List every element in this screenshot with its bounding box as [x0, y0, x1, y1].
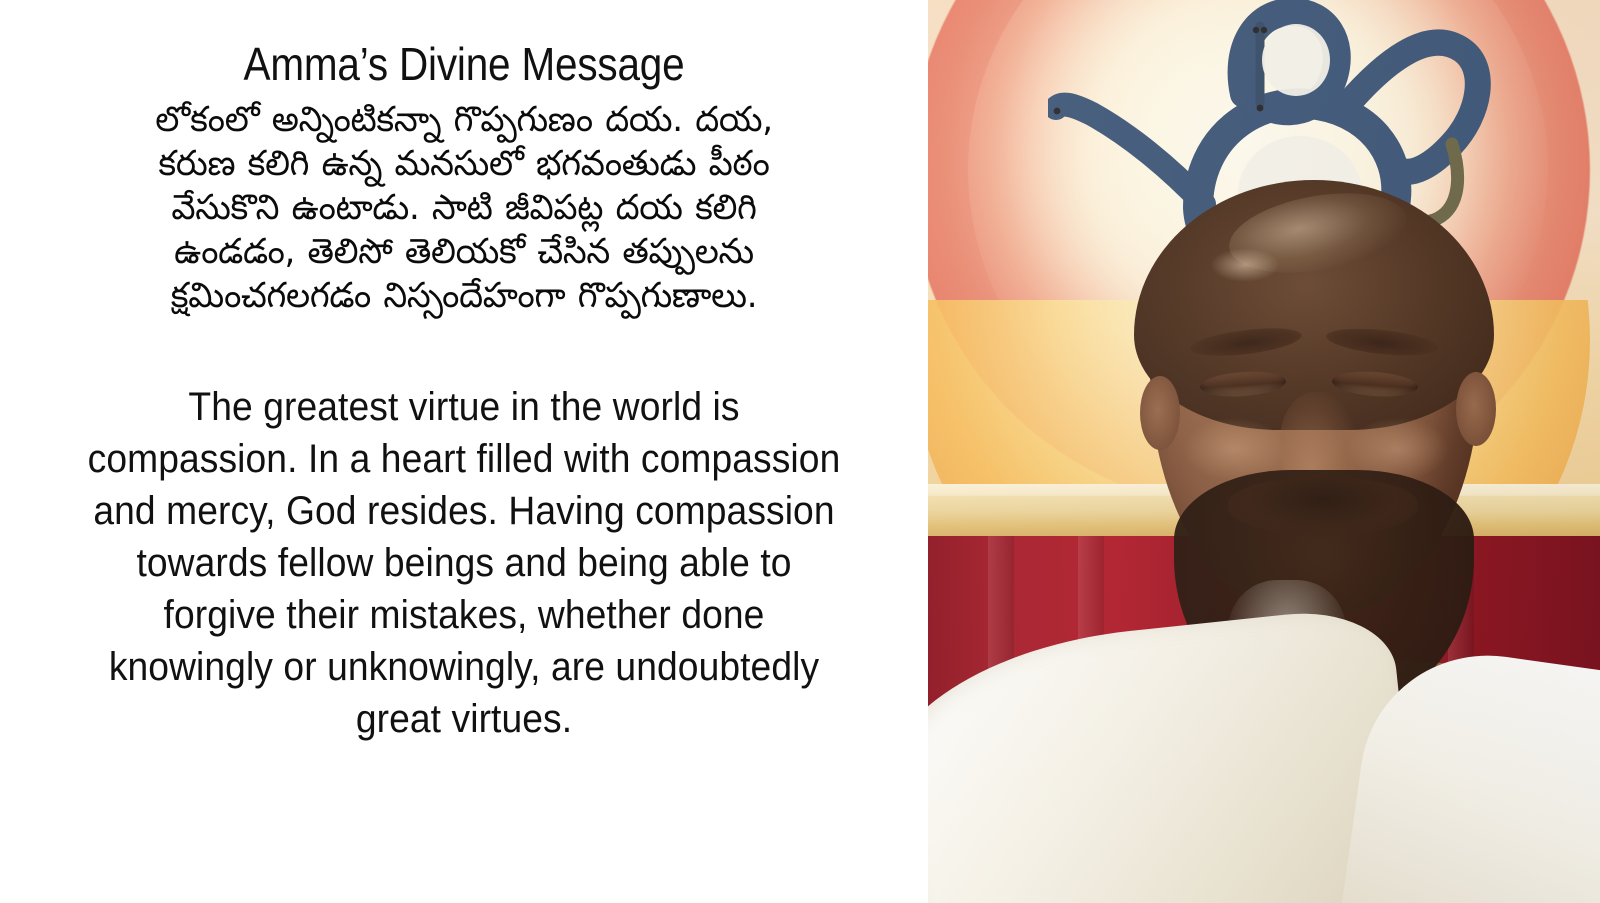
telugu-line: కరుణ కలిగి ఉన్న మనసులో భగవంతుడు పీఠం — [68, 142, 860, 186]
amma-photograph — [928, 0, 1600, 903]
photo-inner — [928, 0, 1600, 903]
telugu-line: లోకంలో అన్నింటికన్నా గొప్పగుణం దయ. దయ, — [68, 98, 860, 142]
english-line: towards fellow beings and being able to — [83, 537, 846, 589]
message-text-panel: Amma’s Divine Message లోకంలో అన్నింటికన్… — [0, 0, 928, 903]
telugu-message-block: లోకంలో అన్నింటికన్నా గొప్పగుణం దయ. దయ, క… — [52, 98, 876, 318]
telugu-line: ఉండడం, తెలిసో తెలియకో చేసిన తప్పులను — [68, 230, 860, 274]
english-message-block: The greatest virtue in the world is comp… — [52, 381, 876, 745]
slide-root: Amma’s Divine Message లోకంలో అన్నింటికన్… — [0, 0, 1600, 903]
paragraph-spacer — [52, 319, 876, 381]
telugu-line: వేసుకొని ఉంటాడు. సాటి జీవిపట్ల దయ కలిగి — [68, 186, 860, 230]
ear-right — [1456, 372, 1496, 446]
english-line: compassion. In a heart filled with compa… — [83, 433, 846, 485]
page-title: Amma’s Divine Message — [101, 36, 826, 92]
moustache — [1228, 478, 1418, 536]
english-line: knowingly or unknowingly, are undoubtedl… — [83, 641, 846, 693]
forehead-highlight — [1210, 248, 1280, 282]
english-line: forgive their mistakes, whether done — [83, 589, 846, 641]
telugu-line: క్షమించగలగడం నిస్సందేహంగా గొప్పగుణాలు. — [68, 274, 860, 318]
ear-left — [1140, 376, 1180, 450]
english-line: The greatest virtue in the world is — [83, 381, 846, 433]
english-line: great virtues. — [83, 693, 846, 745]
english-line: and mercy, God resides. Having compassio… — [83, 485, 846, 537]
